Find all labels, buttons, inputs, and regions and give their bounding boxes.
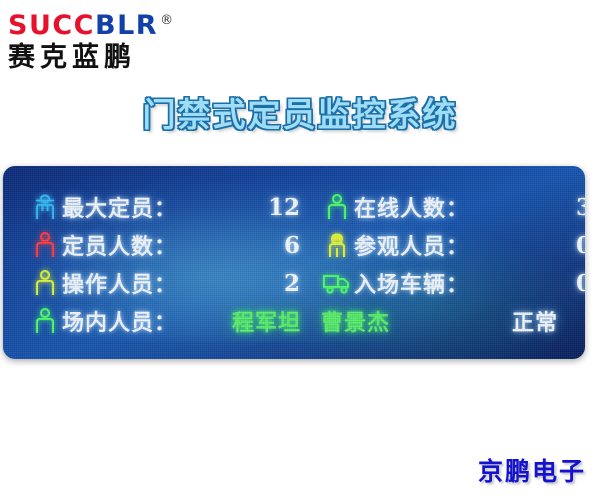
logo-wordmark: SUCCBLR® [8,6,218,41]
led-row-onsite-personnel: 场内人员： 程军坦 曹景杰 正常 [28,302,576,340]
onsite-name: 曹景杰 [321,305,390,337]
onsite-names-list: 程军坦 曹景杰 [222,305,512,337]
person-cap-icon [28,193,62,221]
led-label-online-count: 在线人数： [354,191,514,223]
led-value-max-capacity: 12 [222,194,308,221]
led-value-visitor-count: 0 [514,232,585,259]
truck-icon [320,271,354,295]
logo-wordmark-succ: SUCC [8,10,95,41]
led-row: 最大定员： 12 在线人数： 3 [28,188,576,226]
led-value-online-count: 3 [514,194,585,221]
person-green-icon [28,307,62,335]
led-value-quota-count: 6 [222,232,308,259]
led-value-vehicles-entered: 0 [514,270,585,297]
led-label-vehicles-entered: 入场车辆： [354,267,514,299]
led-display-panel: 最大定员： 12 在线人数： 3 定员人数： 6 [3,166,585,359]
led-value-operator-count: 2 [222,270,308,297]
led-row: 操作人员： 2 入场车辆： 0 [28,264,576,302]
registered-trademark-icon: ® [160,6,173,36]
visitor-cap-icon [320,231,354,259]
person-yellow-icon [28,269,62,297]
status-badge: 正常 [512,305,576,337]
company-logo: SUCCBLR® 赛克蓝鹏 [8,6,218,72]
logo-chinese-name: 赛克蓝鹏 [8,42,218,74]
person-red-icon [28,231,62,259]
led-label-operator-count: 操作人员： [62,267,222,299]
led-label-onsite-personnel: 场内人员： [62,305,222,337]
person-online-icon [320,193,354,221]
page-title: 门禁式定员监控系统 [0,88,600,136]
led-label-visitor-count: 参观人员： [354,229,514,261]
logo-wordmark-blr: BLR [95,10,158,41]
led-label-max-capacity: 最大定员： [62,191,222,223]
led-row: 定员人数： 6 参观人员： 0 [28,226,576,264]
led-label-quota-count: 定员人数： [62,229,222,261]
onsite-name: 程军坦 [232,305,301,337]
footer-brand: 京鹏电子 [478,452,586,488]
led-content-grid: 最大定员： 12 在线人数： 3 定员人数： 6 [28,188,576,340]
